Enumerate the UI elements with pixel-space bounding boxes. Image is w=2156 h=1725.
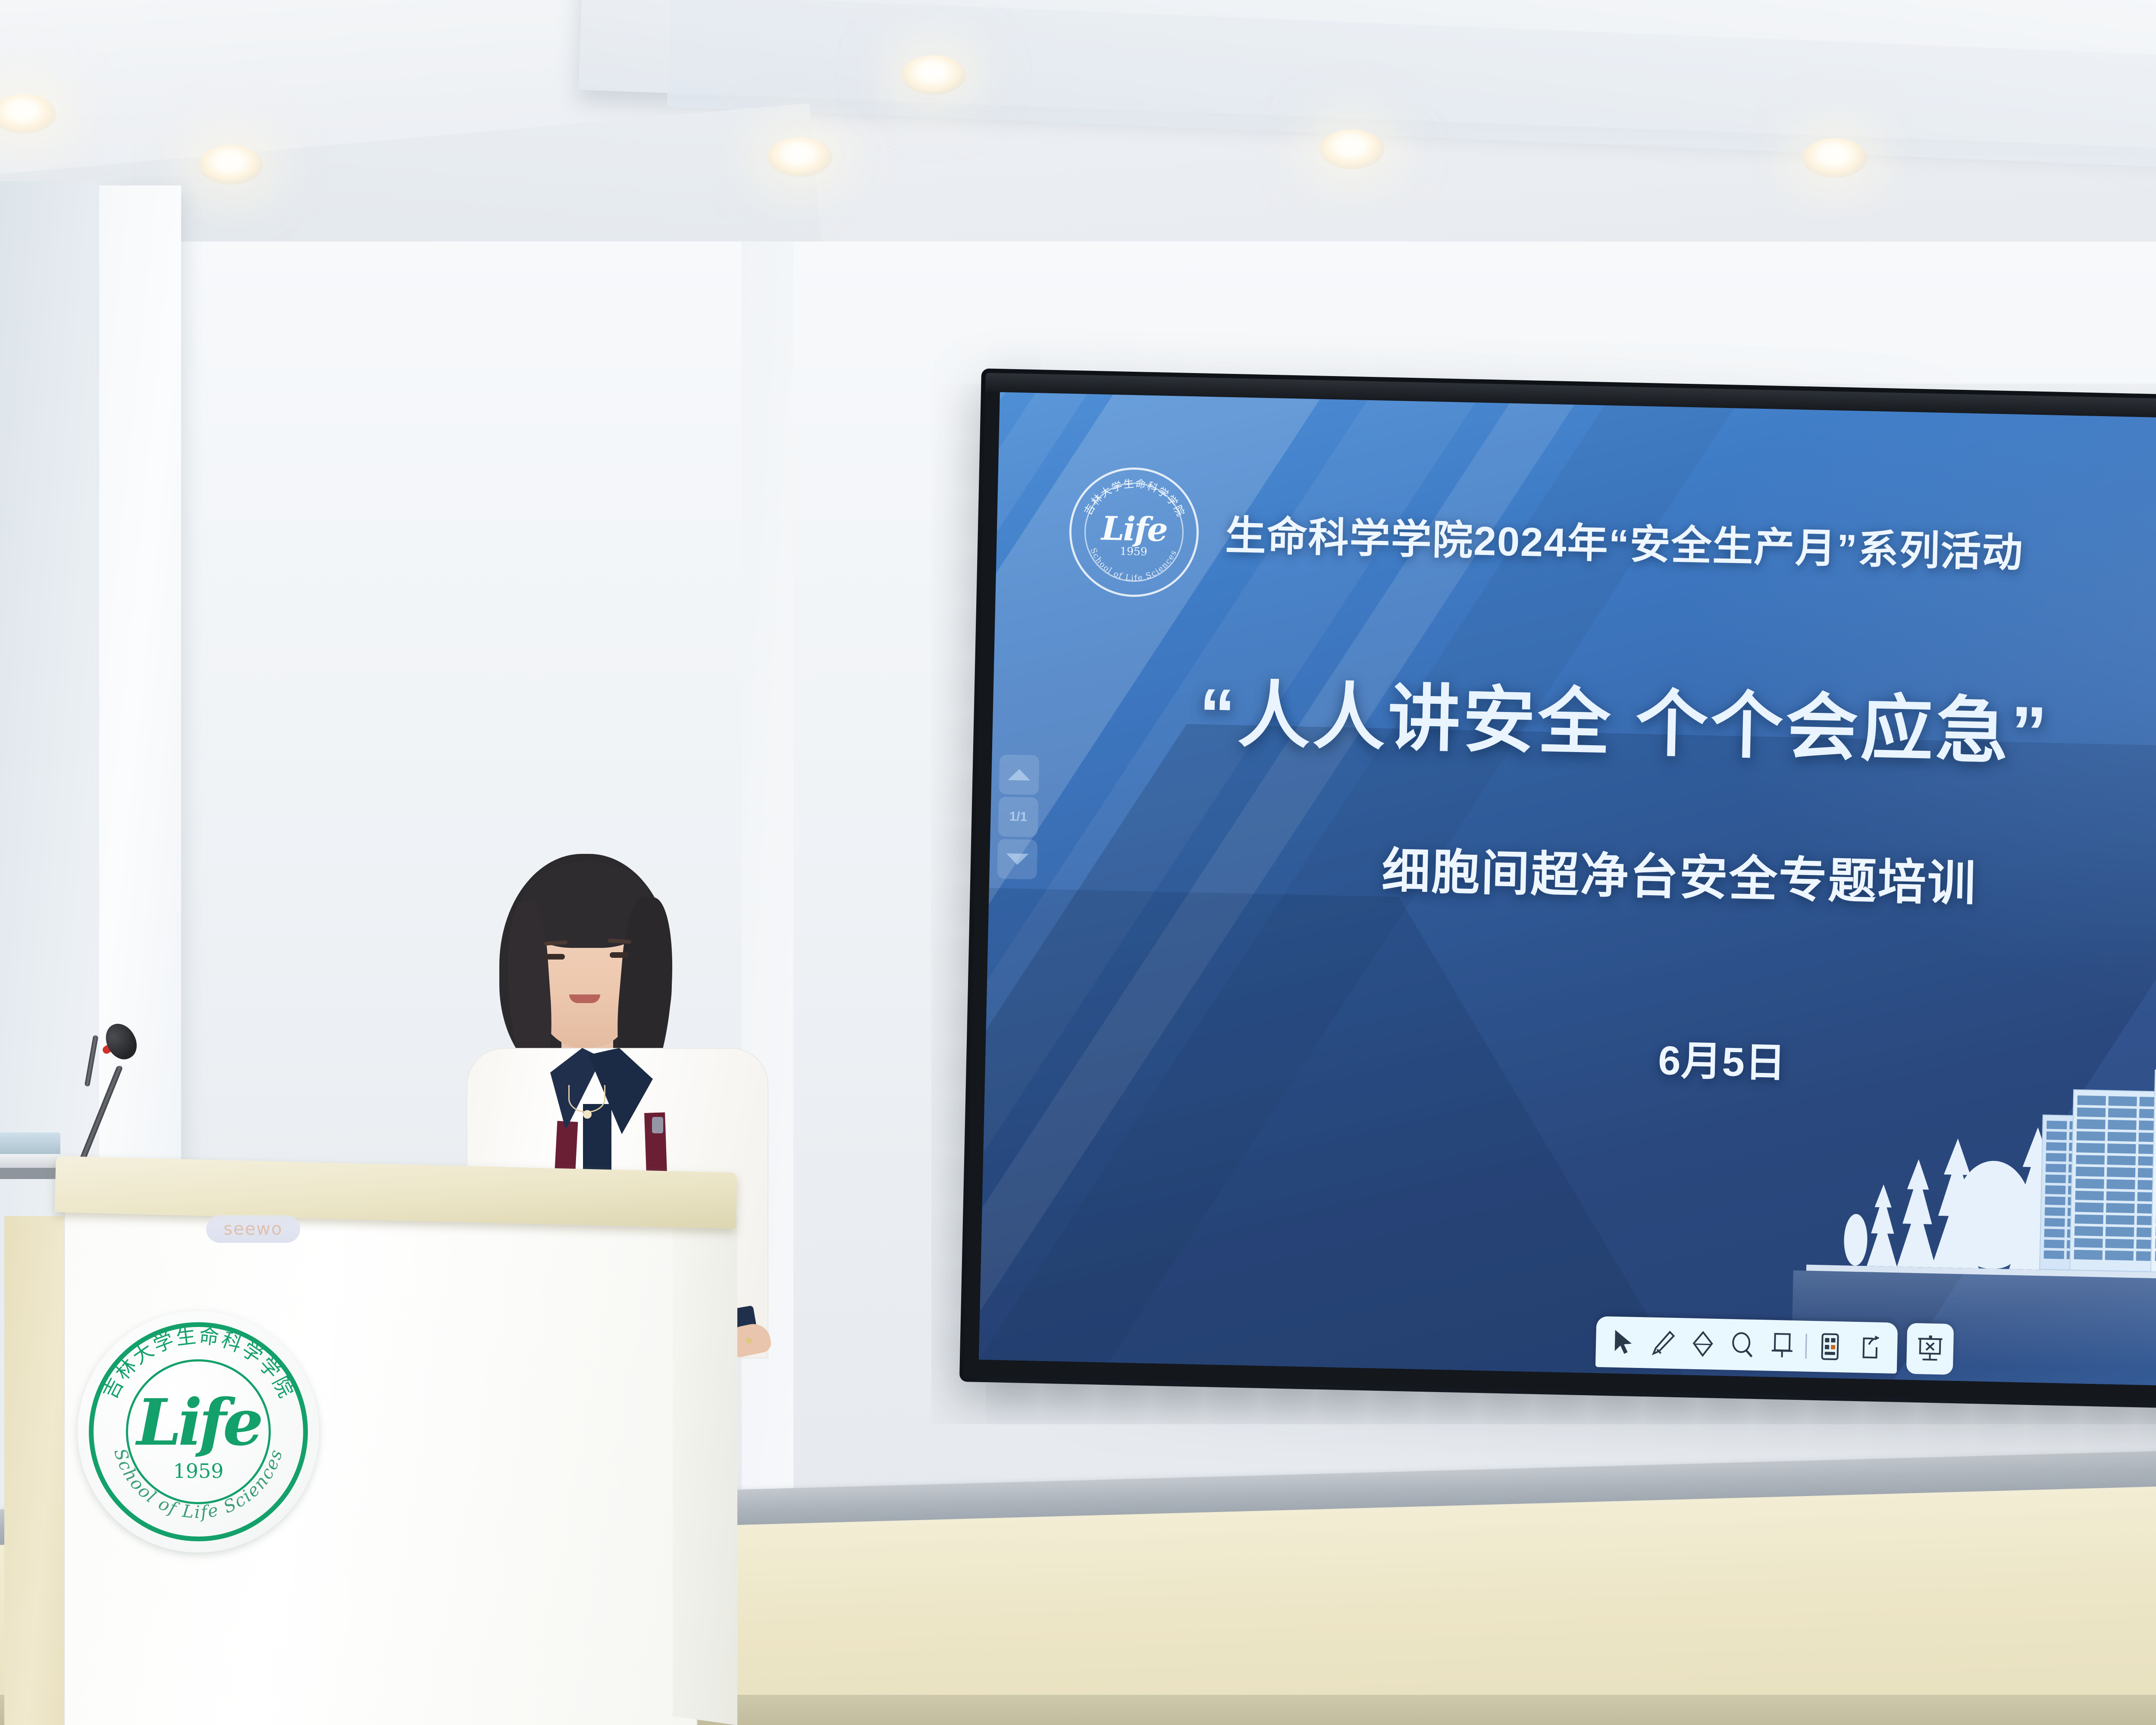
lecture-hall-scene: Life 1959 吉林大学生命科学学院 School of Life Scie… <box>0 0 2156 1725</box>
presenter-ring <box>746 1338 752 1344</box>
slide-subtitle-text: 细胞间超净台安全专题培训 <box>1381 832 1977 915</box>
presentation-toolbar[interactable] <box>1595 1316 1898 1374</box>
ceiling-downlight <box>198 145 263 185</box>
slide-next-button[interactable] <box>997 839 1037 879</box>
ceiling-downlight <box>768 137 832 177</box>
interactive-display[interactable]: Life 1959 吉林大学生命科学学院 School of Life Scie… <box>964 373 2156 1412</box>
toolbar-qrcode-button[interactable] <box>1810 1327 1850 1367</box>
spotlight-icon <box>1730 1331 1755 1358</box>
ceiling <box>0 0 2156 276</box>
toolbar-whiteboard-button[interactable] <box>1762 1325 1802 1366</box>
chevron-up-icon <box>1008 769 1031 781</box>
ceiling-downlight <box>1319 129 1384 169</box>
slide-prev-button[interactable] <box>999 754 1040 795</box>
lectern-podium: seewo Life 1959 吉林大学生命科学学院 School of Lif… <box>34 1164 733 1725</box>
ceiling-downlight <box>1802 138 1867 178</box>
podium-brand-badge: seewo <box>206 1215 300 1243</box>
presentation-slide: Life 1959 吉林大学生命科学学院 School of Life Scie… <box>979 392 2156 1394</box>
qrcode-icon <box>1820 1333 1840 1361</box>
podium-emblem-arc-en-icon: School of Life Sciences <box>78 1311 319 1552</box>
toolbar-pen-button[interactable] <box>1643 1323 1683 1363</box>
chevron-down-icon <box>1006 853 1029 865</box>
slide-logo-script: Life <box>1101 509 1167 549</box>
presenter-lapel-pin <box>652 1117 663 1133</box>
slide-date-text: 6月5日 <box>1658 1028 1786 1089</box>
svg-text:School of Life Sciences: School of Life Sciences <box>110 1446 287 1523</box>
share-icon <box>1858 1334 1881 1361</box>
exit-presentation-icon <box>1916 1334 1943 1363</box>
slide-side-navigation[interactable]: 1/1 <box>997 754 1039 879</box>
tree-icon <box>1843 1214 1868 1266</box>
whiteboard-icon <box>1770 1332 1794 1359</box>
ceiling-downlight <box>901 55 966 95</box>
cursor-icon <box>1612 1329 1635 1356</box>
toolbar-select-button[interactable] <box>1603 1322 1644 1362</box>
building-block <box>2069 1089 2156 1273</box>
toolbar-exit-presentation-button[interactable] <box>1906 1323 1954 1375</box>
toolbar-share-button[interactable] <box>1849 1327 1890 1368</box>
slide-page-indicator: 1/1 <box>998 797 1038 837</box>
toolbar-eraser-button[interactable] <box>1683 1324 1723 1364</box>
tree-icon <box>1867 1184 1899 1267</box>
presenter-pendant <box>583 1110 592 1119</box>
presenter-eye <box>610 952 629 958</box>
presentation-toolbar-wrapper[interactable] <box>1595 1316 1954 1375</box>
tree-icon <box>1897 1159 1938 1267</box>
toolbar-spotlight-button[interactable] <box>1722 1324 1763 1365</box>
display-screen[interactable]: Life 1959 吉林大学生命科学学院 School of Life Scie… <box>979 392 2156 1394</box>
toolbar-divider <box>1805 1334 1807 1359</box>
eraser-icon <box>1691 1330 1714 1358</box>
pen-icon <box>1650 1330 1676 1357</box>
presenter-eye <box>546 954 565 960</box>
presenter-necklace <box>568 1085 605 1113</box>
podium-right-edge <box>673 1207 737 1725</box>
slide-logo-year: 1959 <box>1071 544 1197 559</box>
slide-main-title: “人人讲安全 个个会应急” <box>1198 655 2051 778</box>
ceiling-downlight <box>0 94 56 134</box>
podium-school-emblem: Life 1959 吉林大学生命科学学院 School of Life Scie… <box>78 1311 319 1552</box>
presenter-mouth <box>569 994 600 1003</box>
